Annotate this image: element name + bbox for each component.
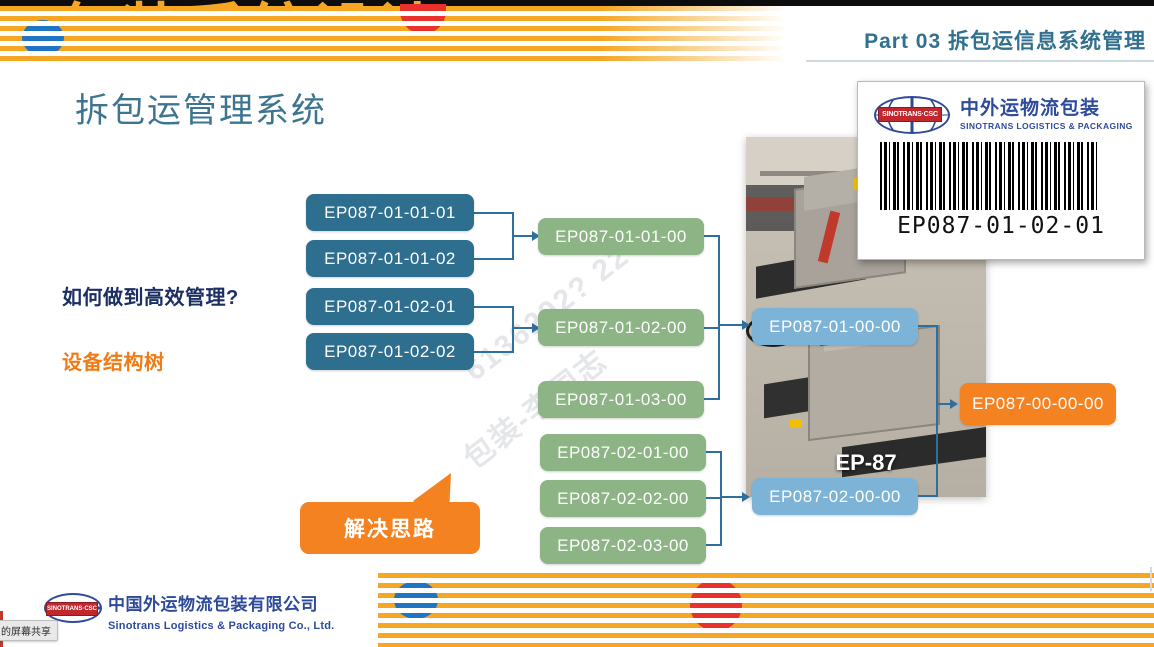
connector-l1-4 <box>474 351 514 353</box>
footer-company-en: Sinotrans Logistics & Packaging Co., Ltd… <box>108 620 334 632</box>
connector-l2-vert-b <box>720 451 722 546</box>
node-label: EP087-01-01-01 <box>324 203 456 223</box>
label-company-block: 中外运物流包装 SINOTRANS LOGISTICS & PACKAGING <box>960 98 1133 132</box>
footer-company-cn: 中国外运物流包装有限公司 <box>108 590 318 615</box>
connector-l1-out-a <box>512 235 534 237</box>
tree-node-ep087-01-02-02[interactable]: EP087-01-02-02 <box>306 333 474 370</box>
sinotrans-globe-icon: SINOTRANS·CSC <box>874 96 950 134</box>
node-label: EP087-01-01-00 <box>555 227 687 247</box>
photo-caption: EP-87 <box>746 450 986 476</box>
node-label: EP087-01-01-02 <box>324 249 456 269</box>
photo-yellow-part-3 <box>790 419 802 428</box>
arrow-to-ep087-02-00-00 <box>742 492 750 502</box>
tree-node-ep087-02-02-00[interactable]: EP087-02-02-00 <box>540 480 706 517</box>
tree-node-ep087-01-01-01[interactable]: EP087-01-01-01 <box>306 194 474 231</box>
node-label: EP087-01-03-00 <box>555 390 687 410</box>
callout-solution[interactable]: 解决思路 <box>300 502 480 554</box>
connector-l2-out-b <box>720 496 744 498</box>
node-label: EP087-02-00-00 <box>769 487 901 507</box>
slide-footer: Packaging System Design SINOTRANS·CSC 中国… <box>0 573 1154 647</box>
slide-header: 包装系统设计 Part 03 拆包运信息系统管理 <box>0 6 1154 62</box>
screen-share-tooltip[interactable]: 的屏幕共享 <box>0 620 58 641</box>
label-company-cn: 中外运物流包装 <box>960 98 1133 120</box>
node-label: EP087-02-03-00 <box>557 536 689 556</box>
barcode-label-card: SINOTRANS·CSC 中外运物流包装 SINOTRANS LOGISTIC… <box>857 81 1145 260</box>
connector-l1-3 <box>474 306 514 308</box>
sinotrans-logo-band: SINOTRANS·CSC <box>878 107 942 122</box>
node-label: EP087-00-00-00 <box>972 394 1104 414</box>
tree-node-ep087-02-03-00[interactable]: EP087-02-03-00 <box>540 527 706 564</box>
right-edge-marker <box>1150 567 1152 591</box>
tree-node-ep087-01-00-00[interactable]: EP087-01-00-00 <box>752 308 918 345</box>
header-underline <box>806 60 1154 62</box>
connector-l3-1 <box>918 325 938 327</box>
node-label: EP087-01-02-00 <box>555 318 687 338</box>
node-label: EP087-02-01-00 <box>557 443 689 463</box>
barcode-number: EP087-01-02-01 <box>858 213 1144 239</box>
connector-l1-out-b <box>512 327 534 329</box>
connector-l1-vert-b <box>512 306 514 353</box>
tree-node-ep087-01-02-00[interactable]: EP087-01-02-00 <box>538 309 704 346</box>
tree-node-ep087-02-00-00[interactable]: EP087-02-00-00 <box>752 478 918 515</box>
sinotrans-footer-logo-band: SINOTRANS·CSC <box>46 602 98 616</box>
connector-l3-2 <box>918 495 938 497</box>
part-label: Part 03 拆包运信息系统管理 <box>864 25 1146 55</box>
footer-banner-word: Packaging System Design <box>382 582 1154 647</box>
label-header: SINOTRANS·CSC 中外运物流包装 SINOTRANS LOGISTIC… <box>874 96 1133 134</box>
node-label: EP087-01-00-00 <box>769 317 901 337</box>
node-label: EP087-02-02-00 <box>557 489 689 509</box>
question-text: 如何做到高效管理? <box>62 281 239 310</box>
tree-node-ep087-00-00-00[interactable]: EP087-00-00-00 <box>960 383 1116 425</box>
arrow-to-ep087-01-00-00 <box>742 320 750 330</box>
callout-label: 解决思路 <box>344 513 436 543</box>
tree-node-ep087-01-01-00[interactable]: EP087-01-01-00 <box>538 218 704 255</box>
connector-l1-1 <box>474 212 514 214</box>
tree-node-ep087-01-02-01[interactable]: EP087-01-02-01 <box>306 288 474 325</box>
globe-icon <box>22 20 64 56</box>
arrow-to-ep087-00-00-00 <box>950 399 958 409</box>
node-label: EP087-01-02-02 <box>324 342 456 362</box>
connector-l2-vert-a <box>718 235 720 400</box>
tree-node-ep087-01-03-00[interactable]: EP087-01-03-00 <box>538 381 704 418</box>
barcode-image <box>880 142 1098 210</box>
tree-node-ep087-02-01-00[interactable]: EP087-02-01-00 <box>540 434 706 471</box>
footer-red-sun-icon <box>690 579 742 631</box>
slide-canvas: 包装系统设计 Part 03 拆包运信息系统管理 拆包运管理系统 如何做到高效管… <box>0 0 1154 647</box>
label-company-en: SINOTRANS LOGISTICS & PACKAGING <box>960 120 1133 132</box>
subtitle-text: 设备结构树 <box>62 346 165 375</box>
footer-blue-sun-icon <box>394 581 438 619</box>
node-label: EP087-01-02-01 <box>324 297 456 317</box>
connector-l3-vert <box>936 325 938 497</box>
header-brand-word: 包装系统设计 <box>56 2 440 64</box>
page-title: 拆包运管理系统 <box>75 83 327 132</box>
connector-l2-out-a <box>718 324 744 326</box>
tree-node-ep087-01-01-02[interactable]: EP087-01-01-02 <box>306 240 474 277</box>
connector-l1-2 <box>474 258 514 260</box>
